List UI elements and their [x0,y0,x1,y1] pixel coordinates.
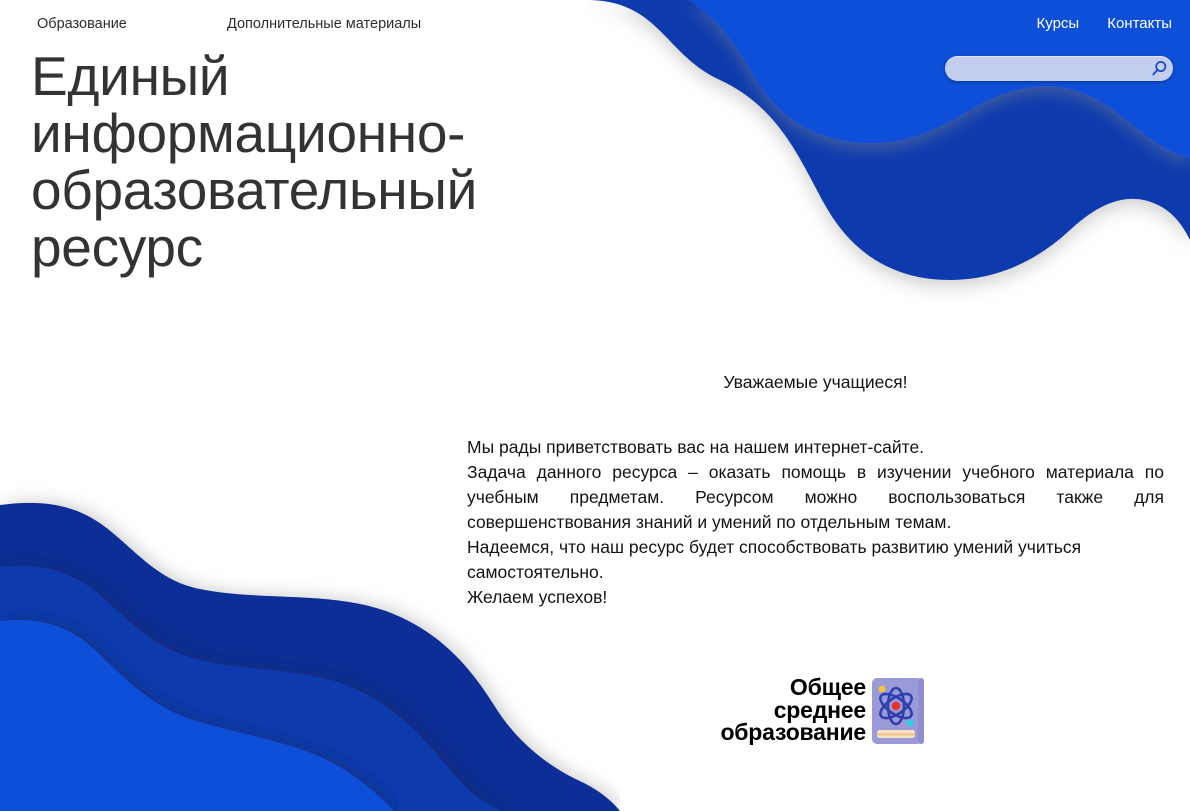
nav-link-courses[interactable]: Курсы [1037,15,1080,32]
primary-nav-left: Образование Дополнительные материалы [37,16,421,32]
nav-link-contacts[interactable]: Контакты [1107,15,1172,32]
logo-line-1: Общее [668,676,866,699]
logo-line-3: образование [668,721,866,744]
page-title-line-2: информационно- [31,102,465,164]
search-icon [1151,60,1168,77]
page-root: Образование Дополнительные материалы Кур… [0,0,1190,811]
wave-top-right [570,0,1190,350]
page-title: Единый информационно- образовательный ре… [31,48,591,276]
welcome-message: Мы рады приветствовать вас на нашем инте… [467,435,1164,610]
primary-nav-right: Курсы Контакты [1037,15,1173,32]
main-content: Уважаемые учащиеся! Мы рады приветствова… [467,370,1164,610]
search-button[interactable] [1145,56,1173,81]
logo-text: Общее среднее образование [668,676,866,744]
paragraph-2: Задача данного ресурса – оказать помощь … [467,460,1164,535]
search-box[interactable] [945,56,1173,81]
logo[interactable]: Общее среднее образование [668,676,924,744]
nav-link-additional-materials[interactable]: Дополнительные материалы [227,16,421,32]
paragraph-3: Надеемся, что наш ресурс будет способств… [467,535,1164,585]
nav-link-education[interactable]: Образование [37,16,227,32]
paragraph-1: Мы рады приветствовать вас на нашем инте… [467,435,1164,460]
page-title-line-3: образовательный [31,159,477,221]
search-input[interactable] [945,56,1145,81]
book-atom-icon [872,678,924,744]
page-title-line-4: ресурс [31,216,203,278]
greeting-text: Уважаемые учащиеся! [467,370,1164,395]
paragraph-4: Желаем успехов! [467,585,1164,610]
logo-line-2: среднее [668,699,866,722]
page-title-line-1: Единый [31,45,229,107]
